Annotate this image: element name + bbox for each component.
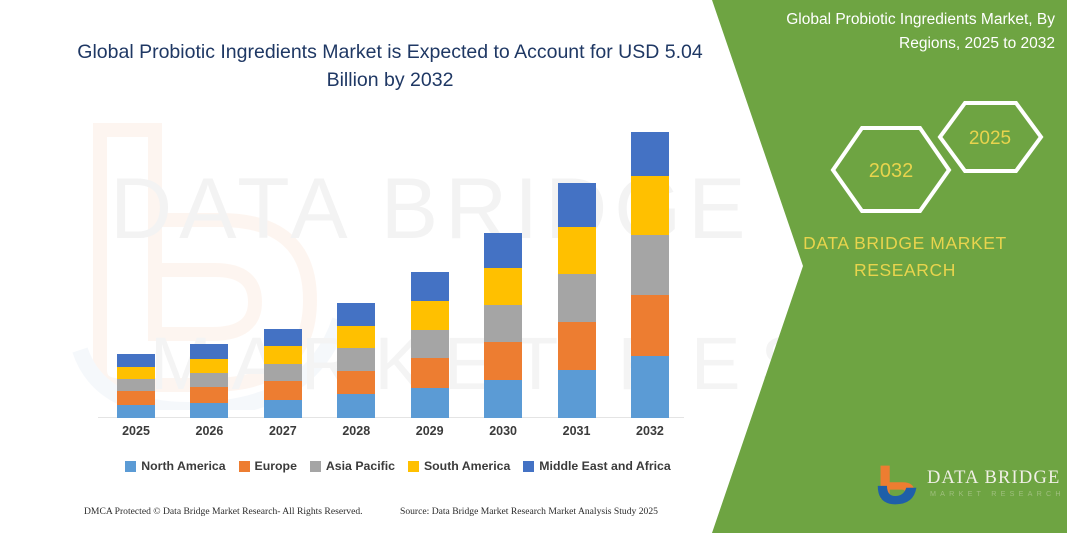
company-logo: DATA BRIDGE MARKET RESEARCH [875, 458, 1065, 518]
bar-segment[interactable] [337, 303, 375, 326]
stacked-bar[interactable] [558, 183, 596, 418]
brand-name: DATA BRIDGE MARKET RESEARCH [765, 230, 1045, 284]
bar-segment[interactable] [117, 391, 155, 404]
legend-label: Europe [255, 459, 297, 473]
bar-segment[interactable] [411, 272, 449, 301]
bar-column[interactable] [106, 110, 166, 418]
bar-group [98, 110, 688, 418]
legend-item[interactable]: South America [408, 459, 510, 473]
legend-item[interactable]: Middle East and Africa [523, 459, 670, 473]
logo-b-mark-icon [875, 462, 921, 508]
stacked-bar[interactable] [411, 272, 449, 418]
bar-column[interactable] [326, 110, 386, 418]
bar-segment[interactable] [190, 373, 228, 387]
logo-tagline: MARKET RESEARCH [930, 489, 1065, 499]
bar-segment[interactable] [337, 326, 375, 349]
legend-swatch [408, 461, 419, 472]
bar-segment[interactable] [264, 364, 302, 381]
legend-label: South America [424, 459, 510, 473]
bar-segment[interactable] [337, 371, 375, 395]
bar-segment[interactable] [484, 305, 522, 342]
bar-segment[interactable] [264, 400, 302, 418]
bar-segment[interactable] [558, 183, 596, 227]
hexagons-svg: 2025 2032 [820, 98, 1060, 213]
x-axis-labels: 20252026202720282029203020312032 [98, 424, 688, 446]
legend-swatch [310, 461, 321, 472]
hexagon-2032-label: 2032 [869, 160, 914, 182]
bar-segment[interactable] [117, 354, 155, 366]
bar-segment[interactable] [484, 233, 522, 268]
legend-swatch [239, 461, 250, 472]
bar-segment[interactable] [558, 370, 596, 418]
chart-pane: Global Probiotic Ingredients Market is E… [0, 0, 760, 533]
x-axis-tick: 2025 [106, 424, 166, 446]
stacked-bar[interactable] [484, 233, 522, 418]
green-panel-content: Global Probiotic Ingredients Market, By … [660, 0, 1067, 533]
bar-segment[interactable] [337, 348, 375, 371]
legend-item[interactable]: Europe [239, 459, 297, 473]
bar-segment[interactable] [117, 379, 155, 391]
bar-segment[interactable] [411, 301, 449, 330]
footer-copyright: DMCA Protected © Data Bridge Market Rese… [84, 506, 363, 517]
bar-segment[interactable] [484, 380, 522, 418]
brand-line-1: DATA BRIDGE MARKET [803, 233, 1007, 253]
logo-wordmark: DATA BRIDGE [927, 468, 1061, 488]
stacked-bar[interactable] [117, 354, 155, 418]
plot-area [98, 110, 688, 418]
page-title: Global Probiotic Ingredients Market is E… [60, 38, 720, 94]
brand-line-2: RESEARCH [854, 260, 956, 280]
infographic-root: DATA BRIDGE MARKET RESEARCH Global Probi… [0, 0, 1067, 533]
bar-segment[interactable] [117, 367, 155, 379]
bar-segment[interactable] [411, 330, 449, 359]
bar-column[interactable] [179, 110, 239, 418]
legend-swatch [523, 461, 534, 472]
bar-segment[interactable] [558, 227, 596, 274]
x-axis-tick: 2026 [179, 424, 239, 446]
bar-segment[interactable] [558, 322, 596, 370]
bar-segment[interactable] [337, 394, 375, 418]
x-axis-tick: 2028 [326, 424, 386, 446]
hexagon-2025-label: 2025 [969, 128, 1011, 149]
bar-column[interactable] [253, 110, 313, 418]
hexagon-group: 2025 2032 [820, 98, 1060, 213]
footer: DMCA Protected © Data Bridge Market Rese… [0, 506, 720, 528]
stacked-bar[interactable] [190, 344, 228, 418]
bar-segment[interactable] [117, 405, 155, 418]
bar-segment[interactable] [484, 268, 522, 305]
bar-segment[interactable] [558, 274, 596, 321]
bar-segment[interactable] [190, 387, 228, 402]
bar-segment[interactable] [411, 388, 449, 418]
bar-segment[interactable] [190, 344, 228, 358]
footer-source: Source: Data Bridge Market Research Mark… [400, 506, 658, 517]
legend-label: Asia Pacific [326, 459, 395, 473]
legend-item[interactable]: Asia Pacific [310, 459, 395, 473]
bar-segment[interactable] [264, 329, 302, 346]
bar-column[interactable] [547, 110, 607, 418]
stacked-bar[interactable] [264, 329, 302, 418]
bar-column[interactable] [473, 110, 533, 418]
bar-segment[interactable] [411, 358, 449, 388]
legend-label: North America [141, 459, 225, 473]
legend-label: Middle East and Africa [539, 459, 670, 473]
bar-segment[interactable] [484, 342, 522, 380]
stacked-bar[interactable] [337, 303, 375, 418]
legend-swatch [125, 461, 136, 472]
legend-item[interactable]: North America [125, 459, 225, 473]
bar-segment[interactable] [190, 403, 228, 418]
bar-segment[interactable] [264, 346, 302, 363]
green-panel: Global Probiotic Ingredients Market, By … [660, 0, 1067, 533]
bar-segment[interactable] [264, 381, 302, 399]
x-axis-tick: 2027 [253, 424, 313, 446]
bar-segment[interactable] [190, 359, 228, 373]
panel-title: Global Probiotic Ingredients Market, By … [755, 8, 1055, 56]
x-axis-tick: 2030 [473, 424, 533, 446]
x-axis-tick: 2029 [400, 424, 460, 446]
x-axis-tick: 2031 [547, 424, 607, 446]
chart-legend: North AmericaEuropeAsia PacificSouth Ame… [98, 455, 698, 477]
bar-column[interactable] [400, 110, 460, 418]
